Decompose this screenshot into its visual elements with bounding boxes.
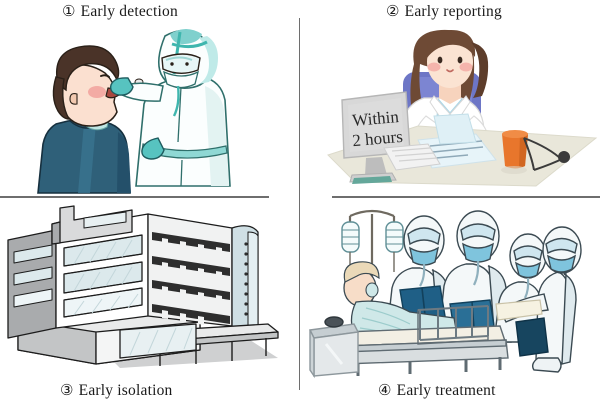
illustration-hospital-building [8,206,278,368]
panel-label-4: Early treatment [397,382,496,399]
panel-number-4: ④ [378,383,392,399]
illustration-ward-treatment [310,211,581,376]
illustration-doctor-reporting: Within 2 hours [328,30,596,186]
caption-early-detection: ①Early detection [62,2,178,21]
panel-early-treatment [300,198,600,380]
panel-early-reporting: Within 2 hours [300,20,600,196]
bedside-cabinet [310,317,358,376]
panel-early-detection [0,20,299,196]
illustration-swab-test [38,29,230,193]
caption-early-isolation: ③Early isolation [60,381,172,400]
caption-early-treatment: ④Early treatment [378,381,496,400]
iv-bag [386,222,403,272]
caption-early-reporting: ②Early reporting [386,2,502,21]
panel-number-2: ② [386,4,400,20]
panel-label-3: Early isolation [79,382,173,399]
panel-number-1: ① [62,4,76,20]
clipboard [516,318,548,356]
panel-label-2: Early reporting [405,3,502,20]
panel-label-1: Early detection [81,3,178,20]
iv-bag [342,222,359,268]
panel-number-3: ③ [60,383,74,399]
panel-early-isolation [0,198,299,380]
figure-sheet: ①Early detection ②Early reporting ③Early… [0,0,600,407]
patient-swab [38,46,131,193]
